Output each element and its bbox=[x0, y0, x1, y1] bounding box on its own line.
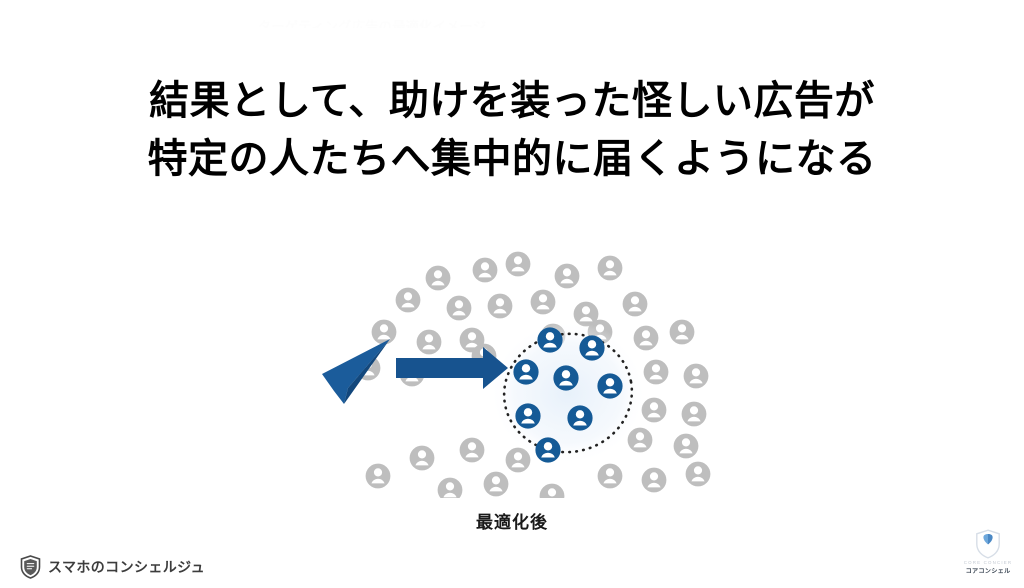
targeted-ad-cluster-diagram bbox=[300, 228, 730, 498]
page-title: 結果として、助けを装った怪しい広告が 特定の人たちへ集中的に届くようになる bbox=[0, 72, 1024, 188]
diagram-caption: 最適化後 bbox=[0, 508, 1024, 533]
brand-right: CORE CONCIER コアコンシェル bbox=[963, 529, 1013, 579]
brand-right-sublabel: CORE CONCIER bbox=[964, 560, 1013, 565]
shield-logo-icon bbox=[975, 529, 1001, 559]
brand-right-label: コアコンシェル bbox=[966, 566, 1011, 575]
slide-canvas: ターゲティング広告の最適化イメージ 結果として、助けを装った怪しい広告が 特定の… bbox=[0, 0, 1024, 588]
shield-badge-icon bbox=[20, 555, 41, 579]
brand-left-label: スマホのコンシェルジュ bbox=[48, 557, 205, 577]
ghost-header-text: ターゲティング広告の最適化イメージ bbox=[258, 16, 680, 28]
brand-left: スマホのコンシェルジュ bbox=[20, 555, 205, 579]
selection-halo bbox=[490, 321, 646, 465]
